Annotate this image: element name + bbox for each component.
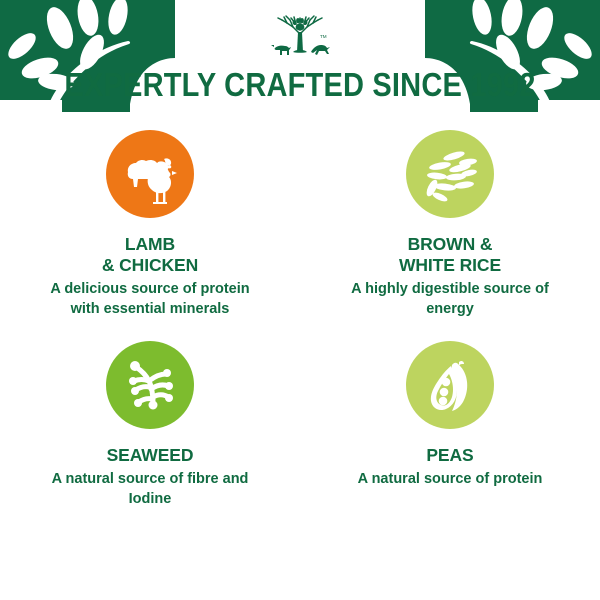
benefit-title: PEAS bbox=[426, 445, 473, 466]
benefit-title-line1: LAMB bbox=[125, 234, 175, 254]
benefit-title-line2: WHITE RICE bbox=[399, 255, 501, 275]
benefit-description: A natural source of fibre and Iodine bbox=[40, 470, 260, 509]
lamb-and-chicken-icon bbox=[106, 130, 194, 218]
rice-grains-icon bbox=[406, 130, 494, 218]
benefit-description: A natural source of protein bbox=[358, 470, 543, 489]
benefit-title: BROWN & WHITE RICE bbox=[399, 234, 501, 275]
benefit-description: A delicious source of protein with essen… bbox=[40, 280, 260, 319]
svg-text:TM: TM bbox=[320, 34, 327, 39]
tree-paw-dogs-logo: TM bbox=[263, 14, 337, 64]
benefit-title-line1: SEAWEED bbox=[107, 445, 194, 465]
benefit-item-lamb-chicken: LAMB & CHICKEN A delicious source of pro… bbox=[0, 130, 300, 319]
benefit-title-line1: PEAS bbox=[426, 445, 473, 465]
benefit-item-rice: BROWN & WHITE RICE A highly digestible s… bbox=[300, 130, 600, 319]
header-banner: TM EXPERTLY CRAFTED SINCE 1992 bbox=[0, 0, 600, 120]
benefit-description: A highly digestible source of energy bbox=[340, 280, 560, 319]
benefit-title-line1: BROWN & bbox=[408, 234, 493, 254]
pea-pod-icon bbox=[406, 341, 494, 429]
benefits-grid: LAMB & CHICKEN A delicious source of pro… bbox=[0, 130, 600, 509]
benefit-item-peas: PEAS A natural source of protein bbox=[300, 341, 600, 509]
benefit-title: SEAWEED bbox=[107, 445, 194, 466]
benefit-item-seaweed: SEAWEED A natural source of fibre and Io… bbox=[0, 341, 300, 509]
benefit-title-line2: & CHICKEN bbox=[102, 255, 198, 275]
benefit-title: LAMB & CHICKEN bbox=[102, 234, 198, 275]
seaweed-icon bbox=[106, 341, 194, 429]
page-title: EXPERTLY CRAFTED SINCE 1992 bbox=[36, 68, 564, 101]
